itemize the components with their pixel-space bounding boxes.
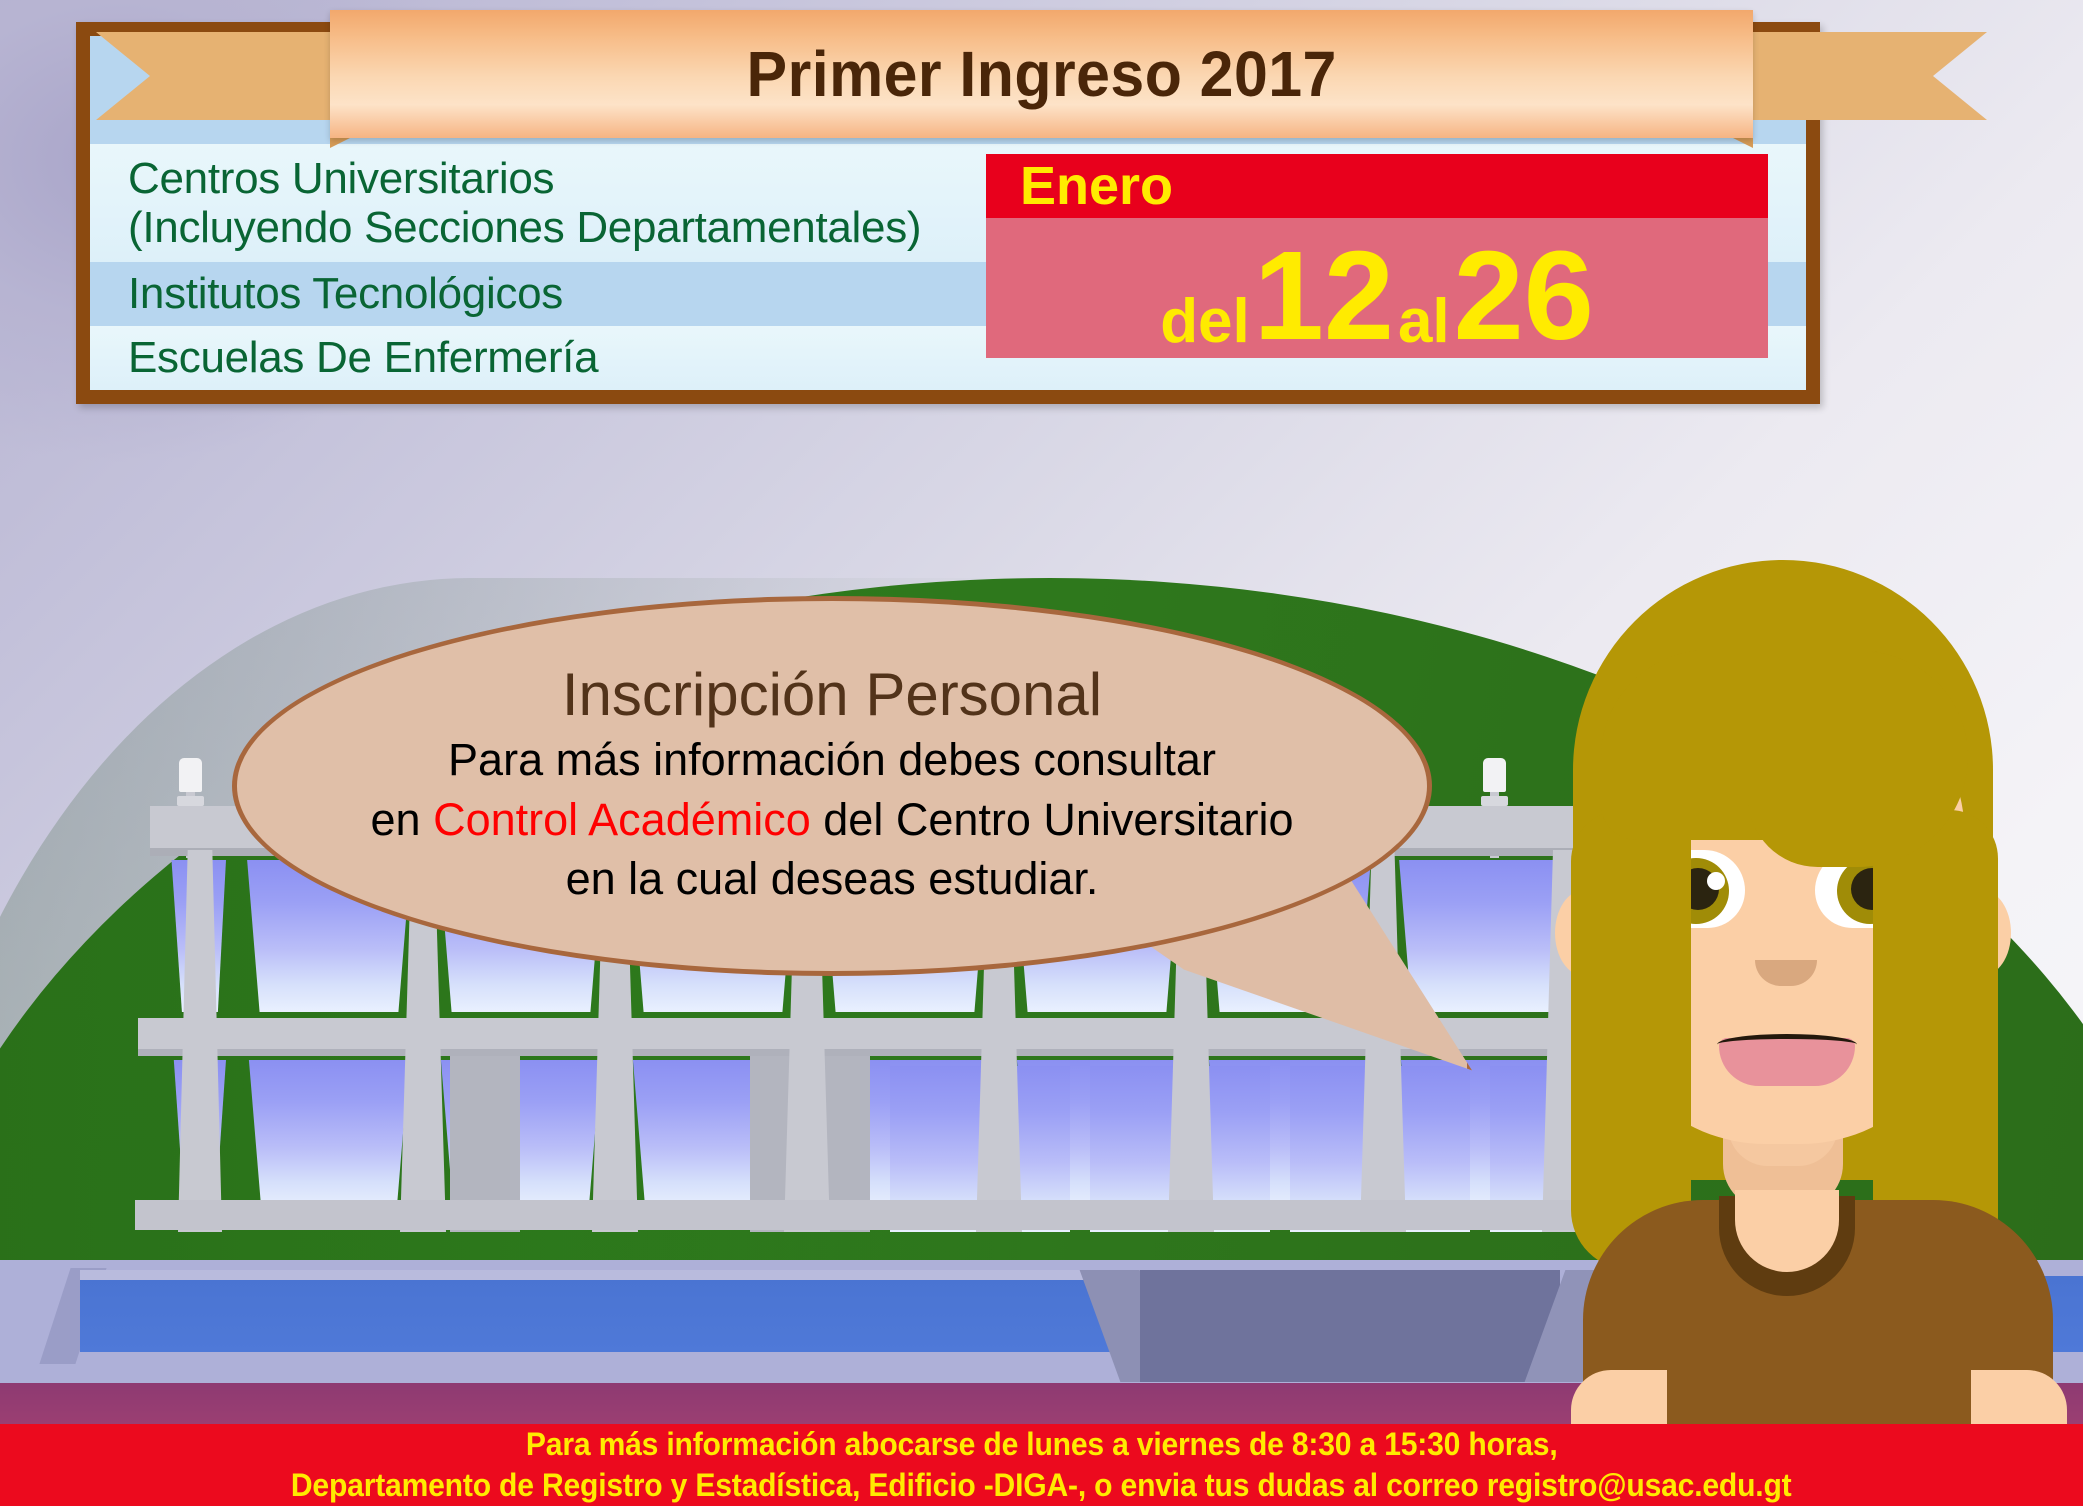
student-character (1523, 560, 2083, 1390)
date-card-month-bar: Enero (986, 154, 1768, 218)
date-from-day: 12 (1254, 238, 1394, 354)
mouth-line (1717, 1034, 1857, 1055)
footer-line-1: Para más información abocarse de lunes a… (526, 1424, 1558, 1465)
panel-row-escuelas-label: Escuelas De Enfermería (128, 333, 598, 382)
bubble-line-3: en la cual deseas estudiar. (566, 849, 1099, 908)
date-from-label: del (1160, 293, 1250, 354)
building-base-slab (135, 1200, 1595, 1230)
hair-side-left (1571, 810, 1691, 1270)
date-card: Enero del 12 al 26 (986, 154, 1768, 358)
control-academico-highlight: Control Académico (433, 794, 811, 845)
footer-line-2: Departamento de Registro y Estadística, … (291, 1465, 1792, 1506)
bubble-line-2: en Control Académico del Centro Universi… (371, 790, 1294, 849)
plaza-ramp (1140, 1270, 1560, 1382)
reflecting-pool-left (80, 1276, 1140, 1352)
eye-glint-left (1707, 872, 1725, 890)
poster-root: Inscripción Personal Para más informació… (0, 0, 2083, 1506)
info-panel-frame: Centros Universitarios (Incluyendo Secci… (76, 22, 1820, 404)
speech-bubble-group: Inscripción Personal Para más informació… (232, 596, 1502, 1016)
panel-row-institutos-label: Institutos Tecnológicos (128, 269, 563, 318)
date-to-day: 26 (1454, 238, 1594, 354)
date-card-month: Enero (1020, 159, 1173, 213)
bubble-line-1: Para más información debes consultar (448, 730, 1216, 789)
window-l2 (240, 1060, 418, 1210)
bubble-title: Inscripción Personal (562, 663, 1102, 726)
mast-base-left (177, 796, 204, 806)
mast-lamp-left (179, 758, 202, 792)
speech-bubble: Inscripción Personal Para más informació… (232, 596, 1432, 976)
panel-row-centros-label: Centros Universitarios (Incluyendo Secci… (128, 154, 921, 253)
pool-rim (80, 1270, 1155, 1280)
hair-fringe-sweep (1748, 652, 1968, 867)
date-to-label: al (1398, 293, 1450, 354)
panel-sky-band (90, 36, 1806, 144)
bubble-line-2-post: del Centro Universitario (811, 794, 1294, 845)
footer-banner: Para más información abocarse de lunes a… (0, 1424, 2083, 1506)
date-card-body: del 12 al 26 (986, 218, 1768, 358)
bubble-line-2-pre: en (371, 794, 434, 845)
date-range: del 12 al 26 (986, 238, 1768, 354)
